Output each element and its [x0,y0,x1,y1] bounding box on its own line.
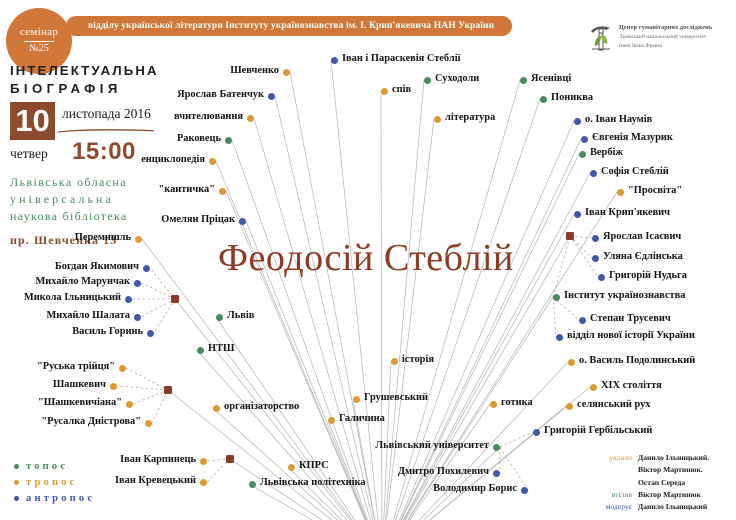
node-label: готика [501,397,533,408]
node-label: о. Іван Наумів [585,114,652,125]
graph-center-title: Феодосій Стеблій [218,236,514,280]
credit-key: втілив [594,489,638,501]
node-dot-antropos [598,274,605,281]
legend-item: топос [14,458,95,474]
node-label: Галичина [339,413,385,424]
credit-value: Віктор Мартинюк [638,489,701,501]
node-label: Михайло Марунчак [35,276,130,287]
node-dot-tropos [566,403,573,410]
node-dot-topos [579,151,586,158]
graph-hub-isaievych-hub[interactable] [566,232,574,240]
node-dot-tropos [490,401,497,408]
node-dot-antropos [556,334,563,341]
node-dot-topos [249,481,256,488]
credit-row: модеруєДанило Ільницький [594,501,709,513]
node-label: Дмитро Похилевич [398,466,489,477]
node-dot-tropos [353,396,360,403]
credit-row: втіливВіктор Мартинюк [594,489,709,501]
node-dot-tropos [381,88,388,95]
node-dot-antropos [592,255,599,262]
node-dot-tropos [209,158,216,165]
node-dot-antropos [579,317,586,324]
node-label: Львівська політехніка [260,477,366,488]
legend-label: антропос [26,493,95,504]
node-dot-antropos [143,265,150,272]
node-dot-tropos [145,420,152,427]
node-label: відділ нової історії України [567,330,695,341]
node-dot-antropos [592,235,599,242]
credit-value: Данило Ільницький [638,501,707,513]
node-dot-antropos [125,296,132,303]
node-dot-tropos [247,115,254,122]
poster-root: семінар №25 відділу української літерату… [0,0,736,520]
credit-key [594,464,638,476]
node-label: Уляна Єдлінська [603,251,683,262]
node-label: "Просвіта" [628,185,682,196]
node-dot-antropos [239,218,246,225]
node-label: Раковець [177,133,221,144]
node-label: література [445,112,495,123]
legend-label: тропос [26,477,78,488]
node-dot-tropos [328,417,335,424]
node-dot-topos [225,137,232,144]
node-dot-antropos [493,470,500,477]
legend: топостропосантропос [14,458,95,506]
node-dot-tropos [135,236,142,243]
node-dot-tropos [434,116,441,123]
node-label: Пониква [551,92,593,103]
credit-value: Віктор Мартинюк. [638,464,703,476]
node-dot-antropos [331,57,338,64]
node-label: "Русалка Дністрова" [41,416,141,427]
node-dot-antropos [581,136,588,143]
node-label: Микола Ільницький [24,292,121,303]
node-dot-tropos [590,384,597,391]
node-dot-antropos [134,314,141,321]
node-label: Ярослав Батенчук [177,89,264,100]
node-label: Софія Стеблій [601,166,669,177]
node-label: Василь Горинь [72,326,143,337]
node-label: НТШ [208,343,234,354]
node-dot-antropos [533,429,540,436]
node-dot-topos [424,77,431,84]
credits: уклалиДанило Ільницький.Віктор Мартинюк.… [594,452,709,513]
node-label: Шашкевич [53,379,106,390]
node-dot-topos [216,314,223,321]
legend-dot-icon [14,496,19,501]
node-label: Омелян Пріцак [161,214,235,225]
node-dot-tropos [219,188,226,195]
node-label: Іван Кревецький [115,475,196,486]
node-dot-tropos [200,458,207,465]
node-dot-tropos [617,189,624,196]
node-dot-topos [493,444,500,451]
node-dot-tropos [110,383,117,390]
node-label: Григорій Гербільський [544,425,652,436]
legend-dot-icon [14,464,19,469]
node-dot-antropos [521,487,528,494]
node-label: Євгенія Мазурик [592,132,673,143]
node-label: Вербіж [590,147,623,158]
node-dot-antropos [590,170,597,177]
node-label: енциклопедія [141,154,205,165]
node-dot-topos [553,294,560,301]
node-label: Львів [227,310,254,321]
credit-row: Віктор Мартинюк. [594,464,709,476]
node-dot-antropos [574,211,581,218]
node-label: вчителювання [174,111,243,122]
node-label: "Руська трійця" [37,361,115,372]
node-label: організаторство [224,401,299,412]
node-label: спів [392,84,411,95]
node-label: Михайло Шалата [46,310,130,321]
node-label: історія [402,354,434,365]
credit-row: Остап Середа [594,477,709,489]
node-dot-tropos [568,359,575,366]
graph-hub-lviv-hub[interactable] [171,295,179,303]
node-label: Іван і Параскевія Стеблії [342,53,460,64]
node-dot-tropos [283,69,290,76]
node-label: Богдан Якимович [55,261,139,272]
credit-key: уклали [594,452,638,464]
node-dot-topos [540,96,547,103]
node-dot-topos [197,347,204,354]
node-label: Шевченко [230,65,279,76]
node-label: Іван Крип'якевич [585,207,670,218]
credit-key [594,477,638,489]
node-label: Грушевський [364,392,428,403]
node-dot-tropos [200,479,207,486]
credit-value: Остап Середа [638,477,685,489]
node-label: XIX століття [601,380,662,391]
node-dot-antropos [268,93,275,100]
node-label: Григорій Нудьга [609,270,687,281]
node-dot-tropos [288,464,295,471]
node-dot-tropos [119,365,126,372]
node-label: Ярослав Ісаєвич [603,231,681,242]
node-label: "Шашкевичіана" [38,397,122,408]
graph-hub-shashkevych-hub[interactable] [164,386,172,394]
node-label: КПРС [299,460,329,471]
legend-dot-icon [14,480,19,485]
legend-label: топос [26,461,68,472]
credit-value: Данило Ільницький. [638,452,709,464]
node-label: Львівський університет [375,440,489,451]
node-dot-antropos [147,330,154,337]
node-label: Суходоли [435,73,479,84]
node-label: "кантичка" [158,184,215,195]
legend-item: антропос [14,490,95,506]
node-dot-tropos [126,401,133,408]
credit-key: модерує [594,501,638,513]
node-dot-antropos [574,118,581,125]
credit-row: уклалиДанило Ільницький. [594,452,709,464]
graph-hub-karpynets-hub[interactable] [226,455,234,463]
node-dot-antropos [134,280,141,287]
node-label: Іван Карпинець [120,454,196,465]
node-dot-topos [520,77,527,84]
legend-item: тропос [14,474,95,490]
node-label: о. Василь Подолинський [579,355,695,366]
node-dot-tropos [213,405,220,412]
node-label: Перемишль [75,232,131,243]
node-label: Ясенівці [531,73,571,84]
node-label: селянський рух [577,399,651,410]
node-dot-tropos [391,358,398,365]
node-label: Володимир Борис [433,483,517,494]
node-label: Інститут українознавства [564,290,685,301]
node-label: Степан Трусевич [590,313,671,324]
